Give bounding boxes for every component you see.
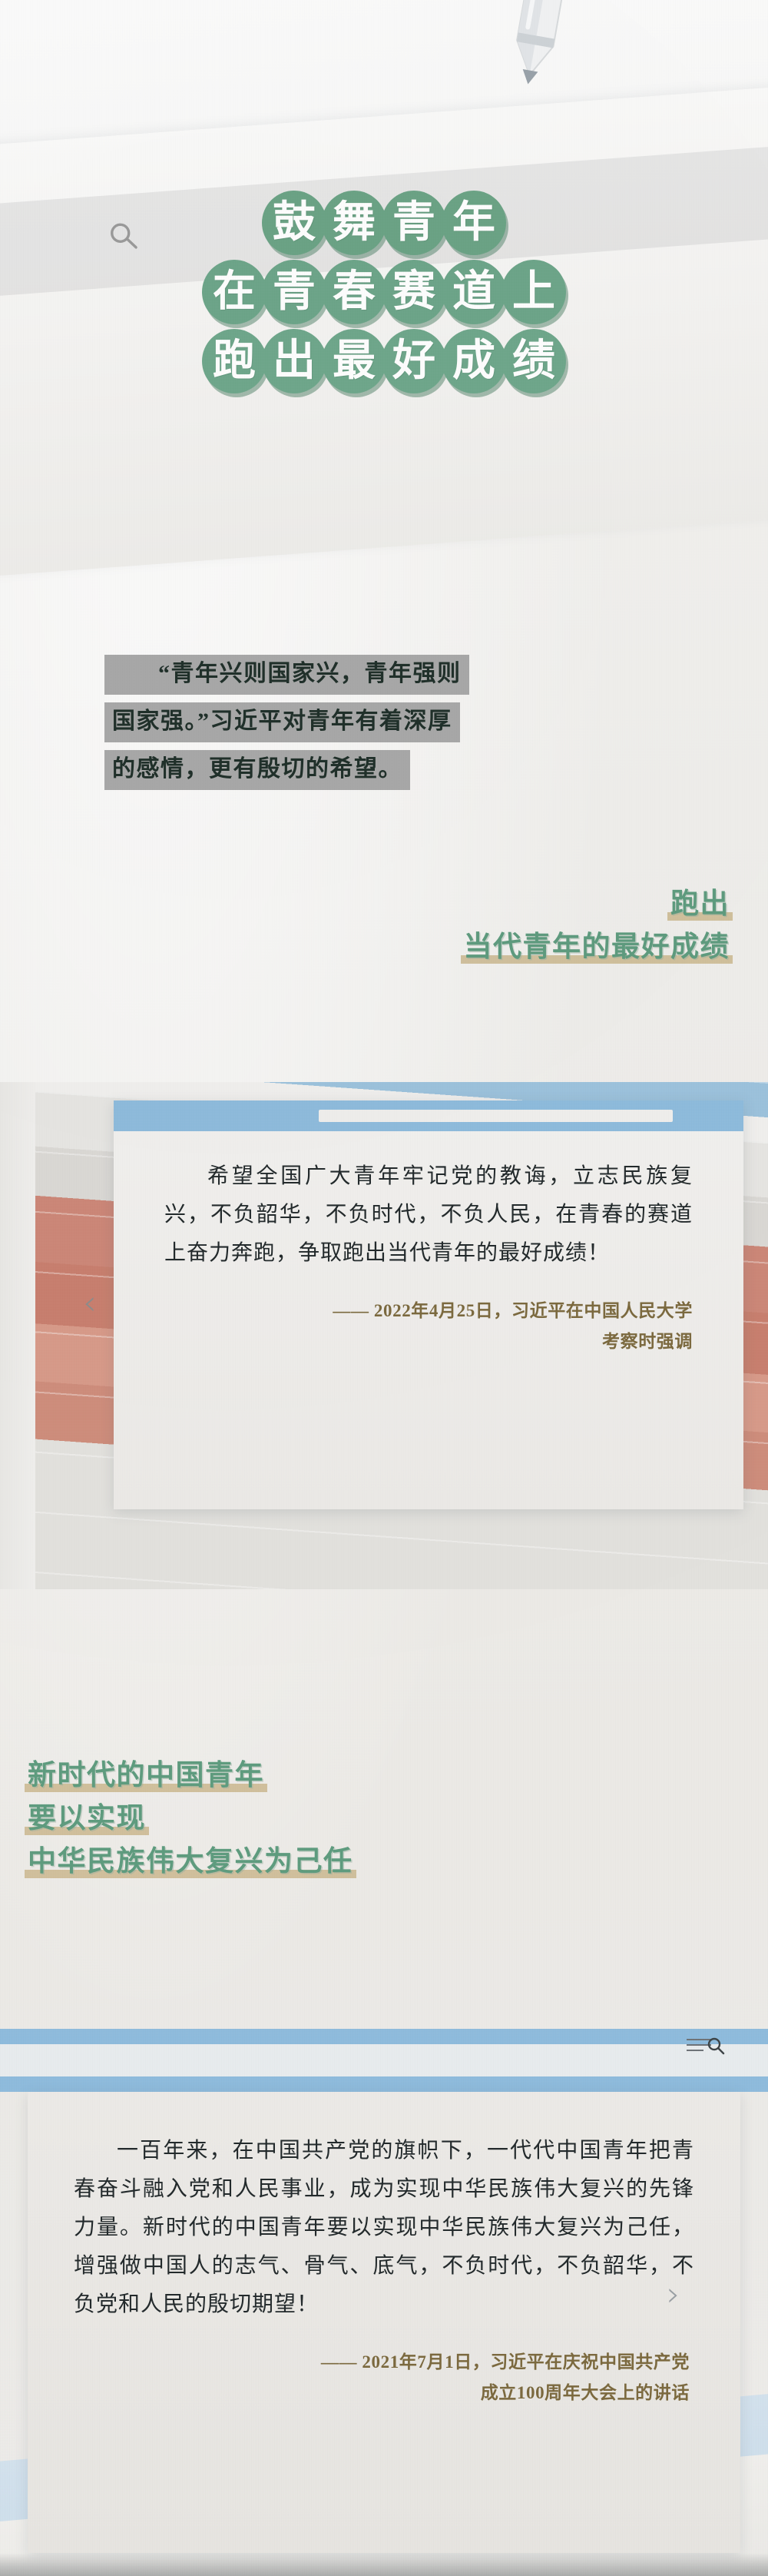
heading-line: 中华民族伟大复兴为己任: [28, 1840, 353, 1883]
quote-attribution: —— 2022年4月25日，习近平在中国人民大学 考察时强调: [114, 1296, 743, 1357]
prev-arrow-icon[interactable]: ‹: [83, 1283, 103, 1323]
title-char: 最: [322, 329, 386, 393]
quote-card-2: 一百年来，在中国共产党的旗帜下，一代代中国青年把青春奋斗融入党和人民事业，成为实…: [28, 2092, 740, 2553]
card2-toolbar-strip: [0, 2044, 768, 2076]
quote-attribution: —— 2021年7月1日，习近平在庆祝中国共产党 成立100周年大会上的讲话: [28, 2347, 740, 2408]
title-char: 出: [262, 329, 326, 393]
title-char: 在: [202, 260, 266, 324]
bottom-fade-strip: [0, 2553, 768, 2576]
section-heading-run: 跑出 当代青年的最好成绩: [464, 882, 730, 968]
heading-line: 跑出: [670, 882, 730, 925]
title-line-2: 在 青 春 赛 道 上: [204, 260, 564, 324]
title-char: 赛: [382, 260, 446, 324]
title-char: 上: [502, 260, 566, 324]
search-icon[interactable]: [685, 2035, 725, 2055]
card-address-field[interactable]: [319, 1110, 674, 1122]
attribution-line: 考察时强调: [164, 1326, 693, 1357]
attribution-line: —— 2021年7月1日，习近平在庆祝中国共产党: [78, 2347, 690, 2378]
heading-line: 新时代的中国青年: [28, 1754, 264, 1797]
quote-text: 一百年来，在中国共产党的旗帜下，一代代中国青年把青春奋斗融入党和人民事业，成为实…: [28, 2092, 740, 2324]
title-char: 鼓: [262, 191, 326, 255]
card-browser-bar: [114, 1100, 743, 1131]
intro-line: 国家强。”习近平对青年有着深厚: [104, 702, 460, 742]
title-char: 绩: [502, 329, 566, 393]
heading-line: 当代青年的最好成绩: [464, 925, 730, 968]
card1-left-edge: [0, 1082, 35, 1589]
title-char: 舞: [322, 191, 386, 255]
quote-card-2-wrapper: 一百年来，在中国共产党的旗帜下，一代代中国青年把青春奋斗融入党和人民事业，成为实…: [0, 1995, 768, 2576]
intro-quote-block: “青年兴则国家兴，青年强则 国家强。”习近平对青年有着深厚 的感情，更有殷切的希…: [0, 655, 768, 798]
quote-card-1: 希望全国广大青年牢记党的教诲，立志民族复兴，不负韶华，不负时代，不负人民，在青春…: [114, 1100, 743, 1509]
title-char: 道: [442, 260, 506, 324]
attribution-line: —— 2022年4月25日，习近平在中国人民大学: [164, 1296, 693, 1326]
title-char: 成: [442, 329, 506, 393]
title-char: 春: [322, 260, 386, 324]
attribution-line: 成立100周年大会上的讲话: [78, 2378, 690, 2408]
intro-line: 的感情，更有殷切的希望。: [104, 750, 410, 790]
heading-line: 要以实现: [28, 1797, 146, 1840]
title-line-3: 跑 出 最 好 成 绩: [204, 329, 564, 393]
title-char: 年: [442, 191, 506, 255]
title-line-1: 鼓 舞 青 年: [264, 191, 504, 255]
title-char: 跑: [202, 329, 266, 393]
card2-blue-bar-bottom: [0, 2076, 768, 2092]
title-char: 好: [382, 329, 446, 393]
card2-blue-bar-top: [0, 2029, 768, 2044]
next-arrow-icon[interactable]: ›: [667, 2275, 687, 2315]
intro-line: “青年兴则国家兴，青年强则: [104, 655, 469, 695]
section-heading-era: 新时代的中国青年 要以实现 中华民族伟大复兴为己任: [28, 1754, 353, 1883]
title-char: 青: [382, 191, 446, 255]
poster-page: 鼓 舞 青 年 在 青 春 赛 道 上 跑 出 最 好 成 绩 “青年兴则国家兴…: [0, 0, 768, 2576]
title-char: 青: [262, 260, 326, 324]
poster-title: 鼓 舞 青 年 在 青 春 赛 道 上 跑 出 最 好 成 绩: [0, 191, 768, 393]
